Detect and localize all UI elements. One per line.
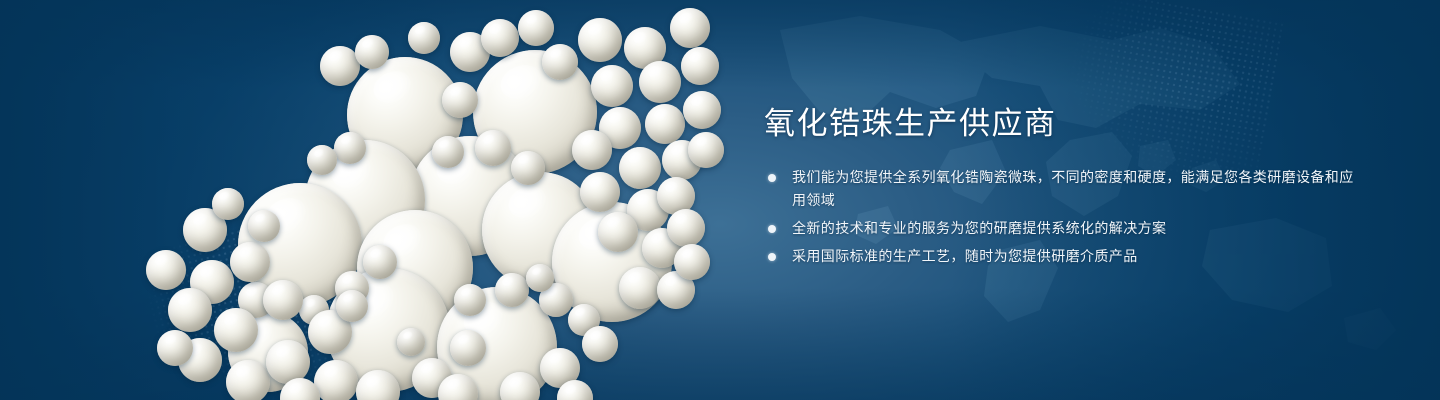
bullet-dot-icon	[768, 174, 776, 182]
list-item: 全新的技术和专业的服务为您的研磨提供系统化的解决方案	[764, 217, 1364, 240]
list-item-label: 全新的技术和专业的服务为您的研磨提供系统化的解决方案	[792, 220, 1166, 236]
bullet-dot-icon	[768, 225, 776, 233]
hero-copy-block: 氧化锆珠生产供应商 我们能为您提供全系列氧化锆陶瓷微珠，不同的密度和硬度，能满足…	[764, 104, 1364, 273]
list-item: 我们能为您提供全系列氧化锆陶瓷微珠，不同的密度和硬度，能满足您各类研磨设备和应用…	[764, 166, 1364, 212]
hero-banner: 氧化锆珠生产供应商 我们能为您提供全系列氧化锆陶瓷微珠，不同的密度和硬度，能满足…	[0, 0, 1440, 400]
list-item-label: 采用国际标准的生产工艺，随时为您提供研磨介质产品	[792, 248, 1138, 264]
feature-list: 我们能为您提供全系列氧化锆陶瓷微珠，不同的密度和硬度，能满足您各类研磨设备和应用…	[764, 166, 1364, 268]
list-item: 采用国际标准的生产工艺，随时为您提供研磨介质产品	[764, 245, 1364, 268]
page-title: 氧化锆珠生产供应商	[764, 104, 1364, 144]
list-item-label: 我们能为您提供全系列氧化锆陶瓷微珠，不同的密度和硬度，能满足您各类研磨设备和应用…	[792, 169, 1354, 208]
bullet-dot-icon	[768, 253, 776, 261]
